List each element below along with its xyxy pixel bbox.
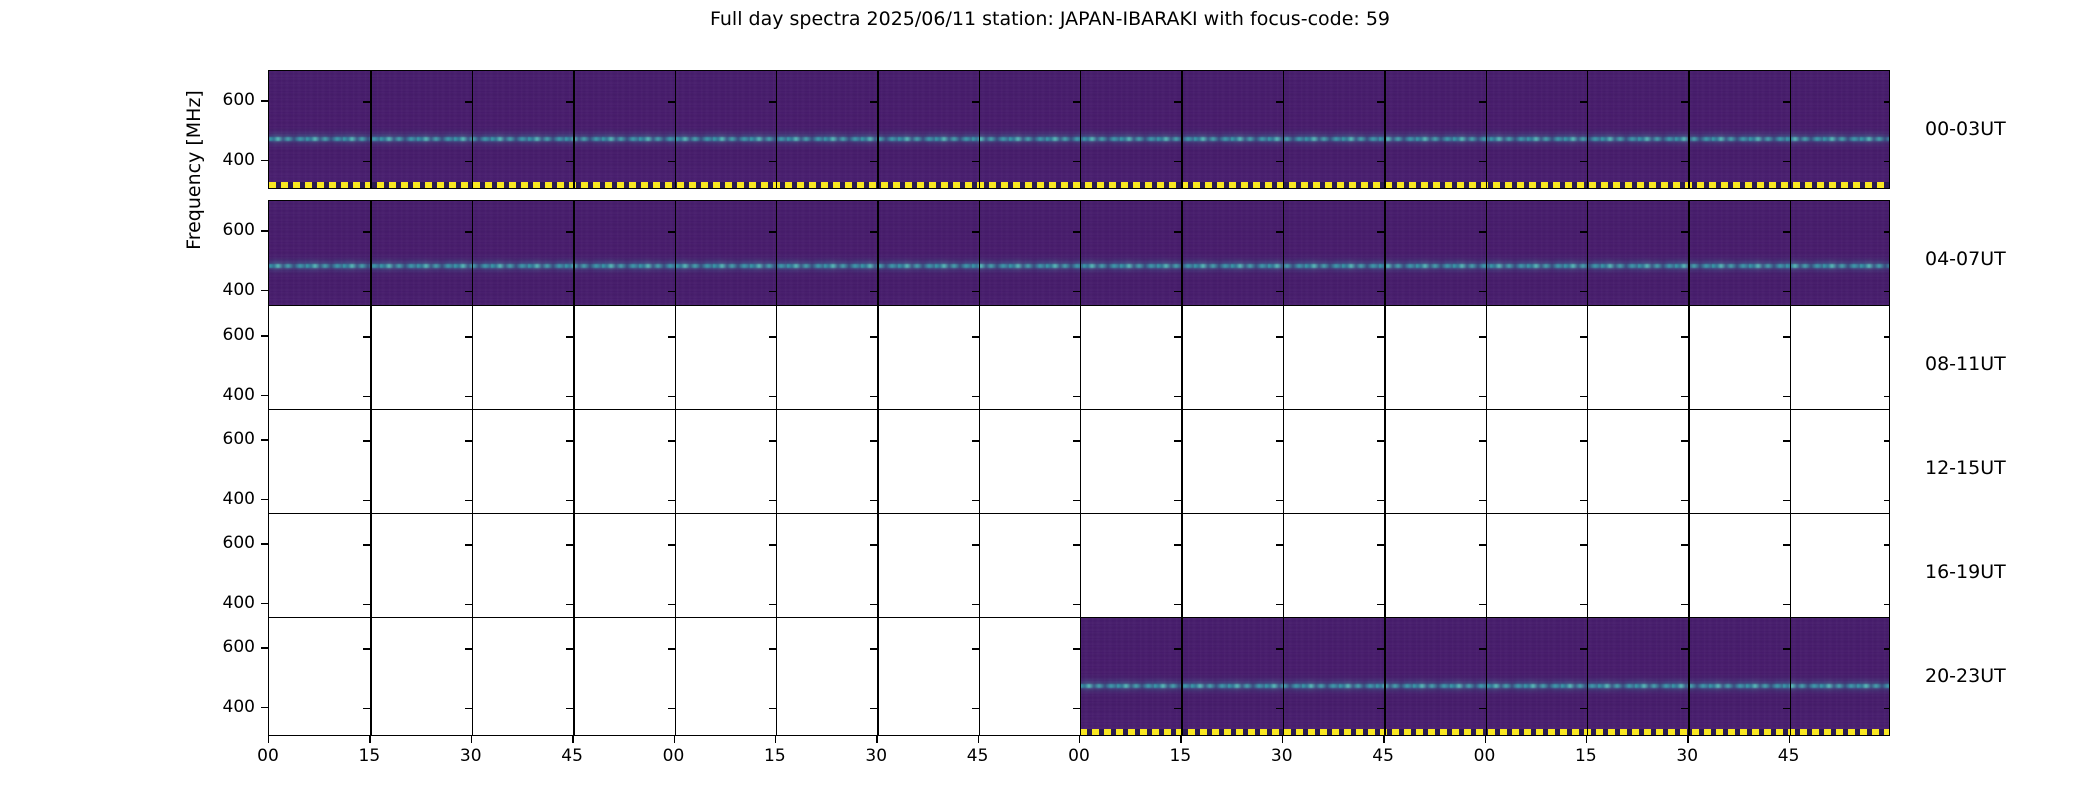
subcolumn-y-tick xyxy=(1479,500,1486,501)
subcolumn-y-tick xyxy=(1681,396,1688,397)
subcolumn-y-tick xyxy=(1377,708,1384,709)
subcolumn-y-tick xyxy=(972,291,979,292)
y-axis-tick xyxy=(261,603,268,604)
subcolumn-separator xyxy=(675,306,676,423)
subcolumn-y-tick xyxy=(465,544,472,545)
subcolumn-separator xyxy=(573,410,574,527)
subcolumn-y-tick xyxy=(870,396,877,397)
y-axis-tick-label: 400 xyxy=(197,150,255,170)
subcolumn-y-tick xyxy=(566,231,573,232)
subcolumn-y-tick xyxy=(363,101,370,102)
subcolumn-y-tick xyxy=(1580,231,1587,232)
subcolumn-separator xyxy=(1384,71,1385,188)
subcolumn-separator xyxy=(1283,514,1284,631)
subcolumn-y-tick xyxy=(465,396,472,397)
subcolumn-separator xyxy=(472,306,473,423)
subcolumn-y-tick xyxy=(1073,648,1080,649)
x-axis-tick-label: 30 xyxy=(441,746,501,766)
subcolumn-y-tick xyxy=(465,604,472,605)
subcolumn-separator xyxy=(370,71,371,188)
subcolumn-y-tick xyxy=(1580,500,1587,501)
subcolumn-y-tick xyxy=(566,648,573,649)
subcolumn-y-tick xyxy=(1681,708,1688,709)
subcolumn-separator xyxy=(675,618,676,735)
subcolumn-y-tick xyxy=(972,161,979,162)
subcolumn-y-tick xyxy=(1580,396,1587,397)
subcolumn-y-tick xyxy=(1884,336,1890,337)
spectrogram-panel-16-19ut[interactable] xyxy=(268,513,1890,632)
y-axis-tick-label: 400 xyxy=(197,280,255,300)
subcolumn-y-tick xyxy=(1479,231,1486,232)
y-axis-tick xyxy=(261,290,268,291)
subcolumn-y-tick xyxy=(769,708,776,709)
x-axis-tick xyxy=(775,736,776,743)
subcolumn-separator xyxy=(1587,618,1588,735)
subcolumn-y-tick xyxy=(769,500,776,501)
y-axis-tick-label: 600 xyxy=(197,220,255,240)
subcolumn-y-tick xyxy=(363,291,370,292)
subcolumn-y-tick xyxy=(1783,231,1790,232)
subcolumn-y-tick xyxy=(1580,161,1587,162)
subcolumn-y-tick xyxy=(972,231,979,232)
subcolumn-y-tick xyxy=(363,500,370,501)
subcolumn-separator xyxy=(1384,514,1385,631)
subcolumn-separator xyxy=(472,410,473,527)
subcolumn-y-tick xyxy=(1681,231,1688,232)
subcolumn-y-tick xyxy=(1276,336,1283,337)
subcolumn-separator xyxy=(370,201,371,318)
subcolumn-separator xyxy=(472,514,473,631)
subcolumn-separator xyxy=(370,618,371,735)
subcolumn-y-tick xyxy=(1276,708,1283,709)
y-axis-tick xyxy=(261,160,268,161)
subcolumn-y-tick xyxy=(465,500,472,501)
row-label-08-11ut: 08-11UT xyxy=(1925,353,2006,375)
subcolumn-y-tick xyxy=(1479,101,1486,102)
y-axis-tick-label: 600 xyxy=(197,90,255,110)
row-label-12-15ut: 12-15UT xyxy=(1925,457,2006,479)
subcolumn-y-tick xyxy=(566,604,573,605)
subcolumn-y-tick xyxy=(1884,396,1890,397)
subcolumn-y-tick xyxy=(1276,500,1283,501)
subcolumn-y-tick xyxy=(1884,604,1890,605)
subcolumn-y-tick xyxy=(1174,336,1181,337)
x-axis-tick-label: 15 xyxy=(1150,746,1210,766)
row-label-04-07ut: 04-07UT xyxy=(1925,248,2006,270)
subcolumn-separator xyxy=(979,201,980,318)
subcolumn-separator xyxy=(877,306,878,423)
subcolumn-y-tick xyxy=(668,101,675,102)
subcolumn-y-tick xyxy=(1783,648,1790,649)
x-axis-tick xyxy=(1687,736,1688,743)
subcolumn-y-tick xyxy=(1783,604,1790,605)
subcolumn-y-tick xyxy=(1174,604,1181,605)
subcolumn-y-tick xyxy=(363,708,370,709)
subcolumn-y-tick xyxy=(566,440,573,441)
subcolumn-y-tick xyxy=(1884,161,1890,162)
subcolumn-y-tick xyxy=(363,231,370,232)
subcolumn-y-tick xyxy=(870,500,877,501)
subcolumn-y-tick xyxy=(972,604,979,605)
subcolumn-separator xyxy=(979,514,980,631)
subcolumn-y-tick xyxy=(465,101,472,102)
subcolumn-y-tick xyxy=(1884,291,1890,292)
subcolumn-separator xyxy=(1384,618,1385,735)
subcolumn-separator xyxy=(675,201,676,318)
subcolumn-y-tick xyxy=(1884,648,1890,649)
x-axis-tick-label: 45 xyxy=(1759,746,1819,766)
subcolumn-y-tick xyxy=(1479,604,1486,605)
subcolumn-y-tick xyxy=(1174,648,1181,649)
subcolumn-y-tick xyxy=(1073,500,1080,501)
subcolumn-y-tick xyxy=(870,604,877,605)
subcolumn-y-tick xyxy=(1783,440,1790,441)
subcolumn-y-tick xyxy=(870,440,877,441)
subcolumn-y-tick xyxy=(1580,604,1587,605)
subcolumn-y-tick xyxy=(972,544,979,545)
subcolumn-separator xyxy=(1486,201,1487,318)
subcolumn-y-tick xyxy=(363,440,370,441)
subcolumn-separator xyxy=(675,410,676,527)
y-axis-tick-label: 400 xyxy=(197,593,255,613)
subcolumn-y-tick xyxy=(1073,440,1080,441)
subcolumn-y-tick xyxy=(1073,161,1080,162)
y-axis-tick-label: 600 xyxy=(197,429,255,449)
subcolumn-separator xyxy=(573,514,574,631)
subcolumn-y-tick xyxy=(1580,101,1587,102)
subcolumn-separator xyxy=(776,201,777,318)
subcolumn-y-tick xyxy=(1377,336,1384,337)
subcolumn-y-tick xyxy=(566,336,573,337)
subcolumn-y-tick xyxy=(465,336,472,337)
subcolumn-y-tick xyxy=(668,500,675,501)
subcolumn-y-tick xyxy=(769,440,776,441)
subcolumn-y-tick xyxy=(1174,708,1181,709)
subcolumn-y-tick xyxy=(1073,101,1080,102)
subcolumn-y-tick xyxy=(1479,336,1486,337)
subcolumn-y-tick xyxy=(1276,161,1283,162)
subcolumn-y-tick xyxy=(972,648,979,649)
subcolumn-y-tick xyxy=(1073,604,1080,605)
subcolumn-y-tick xyxy=(1073,396,1080,397)
subcolumn-y-tick xyxy=(668,648,675,649)
subcolumn-y-tick xyxy=(566,396,573,397)
subcolumn-y-tick xyxy=(668,396,675,397)
y-axis-tick-label: 400 xyxy=(197,385,255,405)
x-axis-tick-label: 30 xyxy=(1252,746,1312,766)
subcolumn-separator xyxy=(1688,201,1689,318)
subcolumn-y-tick xyxy=(870,648,877,649)
subcolumn-separator xyxy=(472,71,473,188)
subcolumn-separator xyxy=(1486,618,1487,735)
subcolumn-separator xyxy=(1790,618,1791,735)
subcolumn-y-tick xyxy=(566,161,573,162)
x-axis-tick xyxy=(572,736,573,743)
x-axis-tick xyxy=(1485,736,1486,743)
subcolumn-separator xyxy=(1384,410,1385,527)
subcolumn-y-tick xyxy=(1783,161,1790,162)
subcolumn-separator xyxy=(1080,410,1081,527)
subcolumn-y-tick xyxy=(1377,604,1384,605)
subcolumn-y-tick xyxy=(668,544,675,545)
subcolumn-separator xyxy=(1587,71,1588,188)
subcolumn-separator xyxy=(1688,410,1689,527)
subcolumn-y-tick xyxy=(668,440,675,441)
subcolumn-y-tick xyxy=(1377,161,1384,162)
subcolumn-separator xyxy=(1688,306,1689,423)
y-axis-tick xyxy=(261,647,268,648)
subcolumn-y-tick xyxy=(1681,544,1688,545)
subcolumn-y-tick xyxy=(1276,396,1283,397)
subcolumn-separator xyxy=(1181,201,1182,318)
spectrogram-panel-08-11ut[interactable] xyxy=(268,305,1890,424)
y-axis-tick xyxy=(261,707,268,708)
subcolumn-y-tick xyxy=(1377,396,1384,397)
subcolumn-y-tick xyxy=(1580,336,1587,337)
subcolumn-separator xyxy=(776,514,777,631)
subcolumn-y-tick xyxy=(1479,648,1486,649)
subcolumn-separator xyxy=(776,71,777,188)
subcolumn-y-tick xyxy=(972,396,979,397)
subcolumn-y-tick xyxy=(1276,291,1283,292)
subcolumn-separator xyxy=(877,618,878,735)
subcolumn-y-tick xyxy=(465,291,472,292)
subcolumn-y-tick xyxy=(465,648,472,649)
subcolumn-y-tick xyxy=(972,101,979,102)
subcolumn-y-tick xyxy=(1783,336,1790,337)
spectrogram-panel-04-07ut[interactable] xyxy=(268,200,1890,319)
subcolumn-separator xyxy=(979,306,980,423)
y-axis-tick xyxy=(261,100,268,101)
subcolumn-y-tick xyxy=(1276,231,1283,232)
subcolumn-separator xyxy=(877,410,878,527)
subcolumn-y-tick xyxy=(1580,291,1587,292)
subcolumn-y-tick xyxy=(1580,648,1587,649)
subcolumn-y-tick xyxy=(668,336,675,337)
x-axis-tick-label: 45 xyxy=(542,746,602,766)
subcolumn-y-tick xyxy=(1276,544,1283,545)
y-axis-tick xyxy=(261,395,268,396)
subcolumn-y-tick xyxy=(1580,708,1587,709)
subcolumn-y-tick xyxy=(972,440,979,441)
subcolumn-separator xyxy=(877,514,878,631)
x-axis-tick-label: 00 xyxy=(644,746,704,766)
x-axis-tick xyxy=(978,736,979,743)
subcolumn-y-tick xyxy=(1377,500,1384,501)
x-axis-tick xyxy=(1282,736,1283,743)
subcolumn-separator xyxy=(1283,71,1284,188)
subcolumn-y-tick xyxy=(363,604,370,605)
y-axis-tick xyxy=(261,335,268,336)
y-axis-tick-label: 600 xyxy=(197,533,255,553)
subcolumn-y-tick xyxy=(1174,161,1181,162)
subcolumn-y-tick xyxy=(1783,544,1790,545)
x-axis-tick xyxy=(1079,736,1080,743)
y-axis-tick-label: 400 xyxy=(197,697,255,717)
subcolumn-separator xyxy=(1486,410,1487,527)
subcolumn-separator xyxy=(472,201,473,318)
subcolumn-separator xyxy=(1080,306,1081,423)
x-axis-tick xyxy=(674,736,675,743)
subcolumn-y-tick xyxy=(1580,440,1587,441)
y-axis-tick xyxy=(261,499,268,500)
subcolumn-y-tick xyxy=(668,604,675,605)
x-axis-tick xyxy=(369,736,370,743)
subcolumn-y-tick xyxy=(1073,336,1080,337)
subcolumn-separator xyxy=(877,71,878,188)
row-label-16-19ut: 16-19UT xyxy=(1925,561,2006,583)
x-axis-tick-label: 15 xyxy=(1556,746,1616,766)
subcolumn-y-tick xyxy=(1276,604,1283,605)
subcolumn-separator xyxy=(573,306,574,423)
subcolumn-y-tick xyxy=(1884,440,1890,441)
subcolumn-y-tick xyxy=(870,336,877,337)
subcolumn-separator xyxy=(1384,201,1385,318)
subcolumn-separator xyxy=(573,618,574,735)
subcolumn-y-tick xyxy=(1377,101,1384,102)
x-axis-tick-label: 00 xyxy=(1049,746,1109,766)
subcolumn-separator xyxy=(1181,618,1182,735)
subcolumn-y-tick xyxy=(566,500,573,501)
y-axis-label: Frequency [MHz] xyxy=(183,30,205,310)
x-axis-tick xyxy=(1180,736,1181,743)
subcolumn-y-tick xyxy=(668,708,675,709)
subcolumn-y-tick xyxy=(1580,544,1587,545)
subcolumn-separator xyxy=(573,201,574,318)
y-axis-tick xyxy=(261,439,268,440)
subcolumn-y-tick xyxy=(1479,440,1486,441)
subcolumn-y-tick xyxy=(1073,231,1080,232)
subcolumn-y-tick xyxy=(1681,101,1688,102)
subcolumn-separator xyxy=(979,410,980,527)
subcolumn-separator xyxy=(1587,306,1588,423)
y-axis-tick-label: 400 xyxy=(197,489,255,509)
subcolumn-y-tick xyxy=(1174,291,1181,292)
subcolumn-separator xyxy=(370,514,371,631)
subcolumn-y-tick xyxy=(870,708,877,709)
subcolumn-y-tick xyxy=(1174,500,1181,501)
subcolumn-y-tick xyxy=(769,291,776,292)
x-axis-tick xyxy=(471,736,472,743)
x-axis-tick-label: 45 xyxy=(948,746,1008,766)
subcolumn-y-tick xyxy=(1783,708,1790,709)
subcolumn-y-tick xyxy=(972,336,979,337)
subcolumn-separator xyxy=(979,71,980,188)
subcolumn-y-tick xyxy=(566,101,573,102)
subcolumn-y-tick xyxy=(1377,648,1384,649)
subcolumn-separator xyxy=(1283,306,1284,423)
subcolumn-y-tick xyxy=(465,161,472,162)
spectrogram-panel-12-15ut[interactable] xyxy=(268,409,1890,528)
subcolumn-y-tick xyxy=(870,291,877,292)
x-axis-tick-label: 45 xyxy=(1353,746,1413,766)
subcolumn-y-tick xyxy=(1479,161,1486,162)
subcolumn-y-tick xyxy=(1174,231,1181,232)
subcolumn-separator xyxy=(1486,306,1487,423)
subcolumn-y-tick xyxy=(1377,544,1384,545)
x-axis-tick-label: 00 xyxy=(238,746,298,766)
subcolumn-y-tick xyxy=(363,336,370,337)
y-axis-tick xyxy=(261,230,268,231)
subcolumn-y-tick xyxy=(769,544,776,545)
subcolumn-y-tick xyxy=(1174,396,1181,397)
subcolumn-separator xyxy=(1384,306,1385,423)
spectrogram-figure: Full day spectra 2025/06/11 station: JAP… xyxy=(0,0,2100,800)
subcolumn-y-tick xyxy=(1783,101,1790,102)
subcolumn-y-tick xyxy=(769,604,776,605)
spectrogram-panel-00-03ut[interactable] xyxy=(268,70,1890,189)
y-axis-tick xyxy=(261,543,268,544)
y-axis-tick-label: 600 xyxy=(197,637,255,657)
subcolumn-y-tick xyxy=(1073,544,1080,545)
subcolumn-separator xyxy=(776,306,777,423)
subcolumn-y-tick xyxy=(1884,708,1890,709)
spectrogram-panel-20-23ut[interactable] xyxy=(268,617,1890,736)
subcolumn-separator xyxy=(776,410,777,527)
subcolumn-separator xyxy=(370,410,371,527)
subcolumn-y-tick xyxy=(566,544,573,545)
subcolumn-y-tick xyxy=(363,161,370,162)
subcolumn-separator xyxy=(877,201,878,318)
x-axis-tick-label: 15 xyxy=(745,746,805,766)
x-axis-tick xyxy=(876,736,877,743)
subcolumn-separator xyxy=(776,618,777,735)
subcolumn-y-tick xyxy=(1479,291,1486,292)
subcolumn-separator xyxy=(1790,410,1791,527)
subcolumn-y-tick xyxy=(363,544,370,545)
x-axis-tick-label: 15 xyxy=(339,746,399,766)
row-label-00-03ut: 00-03UT xyxy=(1925,118,2006,140)
y-axis-tick-label: 600 xyxy=(197,325,255,345)
subcolumn-y-tick xyxy=(1276,648,1283,649)
subcolumn-y-tick xyxy=(1276,440,1283,441)
subcolumn-y-tick xyxy=(465,708,472,709)
subcolumn-separator xyxy=(1587,514,1588,631)
subcolumn-y-tick xyxy=(1377,231,1384,232)
subcolumn-separator xyxy=(1283,618,1284,735)
subcolumn-separator xyxy=(1080,514,1081,631)
subcolumn-y-tick xyxy=(1073,291,1080,292)
subcolumn-y-tick xyxy=(1884,500,1890,501)
subcolumn-y-tick xyxy=(870,101,877,102)
subcolumn-y-tick xyxy=(972,500,979,501)
subcolumn-y-tick xyxy=(769,231,776,232)
subcolumn-y-tick xyxy=(1174,440,1181,441)
subcolumn-y-tick xyxy=(668,161,675,162)
subcolumn-y-tick xyxy=(1681,500,1688,501)
subcolumn-y-tick xyxy=(870,544,877,545)
subcolumn-separator xyxy=(1181,71,1182,188)
subcolumn-separator xyxy=(1283,410,1284,527)
subcolumn-y-tick xyxy=(1174,101,1181,102)
subcolumn-y-tick xyxy=(1377,291,1384,292)
subcolumn-separator xyxy=(1080,201,1081,318)
x-axis-tick-label: 00 xyxy=(1455,746,1515,766)
subcolumn-y-tick xyxy=(465,231,472,232)
subcolumn-y-tick xyxy=(1377,440,1384,441)
x-axis-tick xyxy=(1383,736,1384,743)
subcolumn-y-tick xyxy=(1681,648,1688,649)
subcolumn-separator xyxy=(1181,410,1182,527)
subcolumn-y-tick xyxy=(1783,291,1790,292)
subcolumn-y-tick xyxy=(1681,604,1688,605)
x-axis-tick xyxy=(1586,736,1587,743)
subcolumn-y-tick xyxy=(769,648,776,649)
subcolumn-separator xyxy=(1688,514,1689,631)
subcolumn-separator xyxy=(1080,618,1081,735)
subcolumn-y-tick xyxy=(769,161,776,162)
subcolumn-separator xyxy=(1688,618,1689,735)
